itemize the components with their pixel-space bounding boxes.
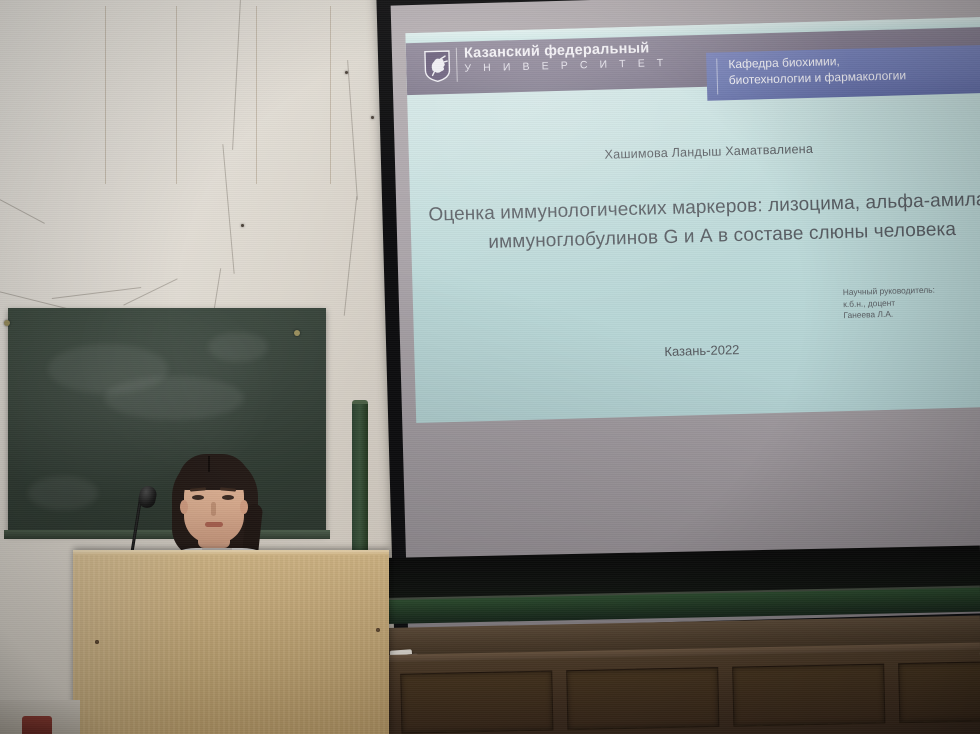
presenter-ear bbox=[180, 500, 188, 514]
presenter-hair-top bbox=[178, 454, 250, 490]
podium-seam bbox=[105, 6, 106, 184]
slide-supervisor: Научный руководитель: к.б.н., доцент Ган… bbox=[843, 283, 980, 322]
presenter-nose bbox=[211, 502, 216, 516]
desk-front-panel bbox=[386, 650, 980, 734]
wall-nail bbox=[241, 224, 244, 227]
projection-screen-surface: Казанский федеральный У Н И В Е Р С И Т … bbox=[391, 0, 980, 629]
presenter-mouth bbox=[205, 522, 223, 527]
podium-seam bbox=[176, 6, 177, 184]
presenter-ear bbox=[240, 500, 248, 514]
presenter-eye bbox=[222, 495, 234, 500]
presentation-photo-scene: Казанский федеральный У Н И В Е Р С И Т … bbox=[0, 0, 980, 734]
presenter-eye bbox=[192, 495, 204, 500]
wall-nail bbox=[345, 71, 348, 74]
desk-panel-inset bbox=[566, 667, 719, 730]
desk-panel-inset bbox=[400, 671, 553, 734]
university-name: Казанский федеральный У Н И В Е Р С И Т … bbox=[464, 40, 668, 77]
podium-shading bbox=[73, 550, 389, 734]
red-object bbox=[22, 716, 52, 734]
podium-hole bbox=[376, 628, 380, 632]
desk-panel-inset bbox=[898, 660, 980, 723]
desk-panel-inset bbox=[732, 664, 885, 727]
podium-hole bbox=[95, 640, 99, 644]
podium-seam bbox=[256, 6, 257, 184]
slide-title: Оценка иммунологических маркеров: лизоци… bbox=[426, 184, 980, 258]
wall-nail bbox=[371, 116, 374, 119]
department-name: Кафедра биохимии, биотехнологии и фармак… bbox=[728, 52, 906, 88]
presentation-slide: Казанский федеральный У Н И В Е Р С И Т … bbox=[405, 16, 980, 423]
slide-author: Хашимова Ландыш Хаматвалиена bbox=[409, 136, 980, 167]
kfu-shield-zilant-icon bbox=[424, 50, 451, 83]
presenter-hair-part bbox=[208, 456, 210, 472]
podium-seam bbox=[330, 6, 331, 184]
slide-place-year: Казань-2022 bbox=[664, 342, 739, 359]
